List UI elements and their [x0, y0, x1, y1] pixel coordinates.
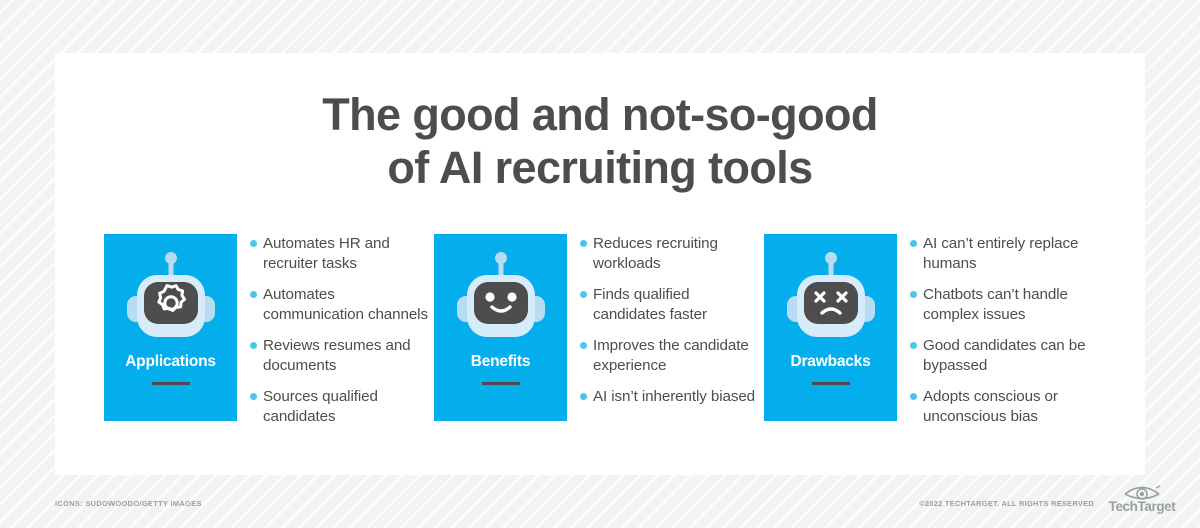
content-panel: The good and not-so-good of AI recruitin… — [55, 53, 1145, 475]
card-rule — [482, 382, 520, 385]
card-rule — [812, 382, 850, 385]
list-item: Sources qualified candidates — [250, 387, 434, 426]
column-applications: Applications Automates HR and recruiter … — [104, 234, 434, 426]
columns-container: Applications Automates HR and recruiter … — [104, 234, 1104, 426]
page-title-line-1: The good and not-so-good — [55, 88, 1145, 141]
list-item: Good candidates can be bypassed — [910, 336, 1104, 375]
list-item: Improves the candidate experience — [580, 336, 764, 375]
card-applications: Applications — [104, 234, 237, 421]
bullet-list-drawbacks: AI can’t entirely replace humans Chatbot… — [897, 234, 1104, 426]
techtarget-logo: TechTarget — [1106, 481, 1178, 517]
page-title-line-2: of AI recruiting tools — [55, 141, 1145, 194]
card-label-benefits: Benefits — [434, 353, 567, 371]
image-credit: ICONS: SUDOWOODO/GETTY IMAGES — [55, 499, 202, 508]
robot-gear-face-icon — [104, 251, 237, 346]
list-item: Reduces recruiting workloads — [580, 234, 764, 273]
card-benefits: Benefits — [434, 234, 567, 421]
bullet-list-benefits: Reduces recruiting workloads Finds quali… — [567, 234, 764, 407]
column-drawbacks: Drawbacks AI can’t entirely replace huma… — [764, 234, 1104, 426]
list-item: AI isn’t inherently biased — [580, 387, 764, 407]
list-item: Automates HR and recruiter tasks — [250, 234, 434, 273]
list-item: Reviews resumes and documents — [250, 336, 434, 375]
eye-icon — [1106, 481, 1178, 501]
list-item: Adopts conscious or unconscious bias — [910, 387, 1104, 426]
list-item: Finds qualified candidates faster — [580, 285, 764, 324]
card-rule — [152, 382, 190, 385]
robot-sad-face-icon — [764, 251, 897, 346]
list-item: Chatbots can’t handle complex issues — [910, 285, 1104, 324]
card-label-applications: Applications — [104, 353, 237, 371]
card-drawbacks: Drawbacks — [764, 234, 897, 421]
copyright-notice: ©2022 TECHTARGET. ALL RIGHTS RESERVED — [919, 499, 1094, 508]
column-benefits: Benefits Reduces recruiting workloads Fi… — [434, 234, 764, 421]
card-label-drawbacks: Drawbacks — [764, 353, 897, 371]
list-item: AI can’t entirely replace humans — [910, 234, 1104, 273]
robot-happy-face-icon — [434, 251, 567, 346]
logo-wordmark: TechTarget — [1106, 500, 1178, 514]
page-title: The good and not-so-good of AI recruitin… — [55, 88, 1145, 194]
bullet-list-applications: Automates HR and recruiter tasks Automat… — [237, 234, 434, 426]
list-item: Automates communication channels — [250, 285, 434, 324]
